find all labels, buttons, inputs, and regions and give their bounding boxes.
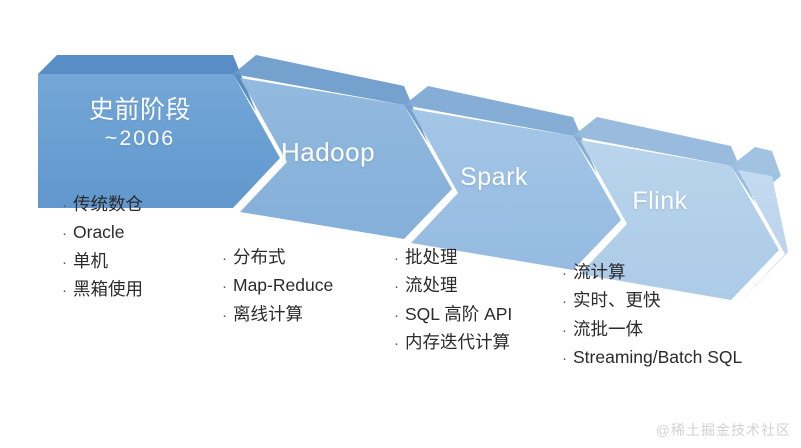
bullet-dot-icon: · (394, 332, 405, 356)
bullet-dot-icon: · (562, 262, 573, 286)
bullet-dot-icon: · (394, 304, 405, 328)
list-item: ·黑箱使用 (62, 275, 143, 303)
list-item: ·内存迭代计算 (394, 328, 512, 356)
bullets-spark: ·批处理 ·流处理 ·SQL 高阶 API ·内存迭代计算 (394, 243, 512, 356)
list-item-label: 流处理 (405, 275, 458, 295)
list-item-label: 流批一体 (573, 319, 643, 339)
bevel-hadoop (233, 55, 428, 143)
list-item-label: 分布式 (233, 247, 286, 267)
list-item: ·Map-Reduce (222, 271, 333, 299)
list-item: ·分布式 (222, 243, 333, 271)
stage-label-prehistoric: 史前阶段 ~2006 (60, 96, 220, 151)
bullets-prehistoric: ·传统数仓 ·Oracle ·单机 ·黑箱使用 (62, 190, 143, 303)
list-item: ·单机 (62, 247, 143, 275)
bullet-dot-icon: · (62, 251, 73, 275)
bullet-dot-icon: · (222, 275, 233, 299)
bullet-dot-icon: · (62, 279, 73, 303)
list-item: ·传统数仓 (62, 190, 143, 218)
bullet-dot-icon: · (562, 290, 573, 314)
bullets-hadoop: ·分布式 ·Map-Reduce ·离线计算 (222, 243, 333, 328)
bevel-arrow-tip (731, 147, 781, 196)
stage-title-flink: Flink (632, 187, 687, 215)
bullet-dot-icon: · (562, 347, 573, 371)
list-item-label: Oracle (73, 222, 125, 242)
bullet-dot-icon: · (562, 319, 573, 343)
list-item-label: Map-Reduce (233, 275, 333, 295)
stage-title-hadoop: Hadoop (281, 137, 375, 167)
list-item: ·Streaming/Batch SQL (562, 343, 742, 371)
list-item: ·批处理 (394, 243, 512, 271)
list-item: ·流计算 (562, 258, 742, 286)
list-item-label: 流计算 (573, 262, 626, 282)
watermark: @稀土掘金技术社区 (656, 420, 791, 440)
list-item-label: 离线计算 (233, 304, 303, 324)
list-item: ·实时、更快 (562, 286, 742, 314)
list-item: ·SQL 高阶 API (394, 300, 512, 328)
list-item-label: 批处理 (405, 247, 458, 267)
list-item-label: SQL 高阶 API (405, 304, 512, 324)
list-item-label: 黑箱使用 (73, 279, 143, 299)
bullet-dot-icon: · (222, 247, 233, 271)
list-item-label: 单机 (73, 251, 108, 271)
bullet-dot-icon: · (222, 304, 233, 328)
stage-label-spark: Spark (434, 163, 554, 193)
bullet-dot-icon: · (394, 275, 405, 299)
bullet-dot-icon: · (62, 222, 73, 246)
list-item-label: 传统数仓 (73, 194, 143, 214)
bevel-spark (404, 86, 597, 174)
bullet-dot-icon: · (62, 194, 73, 218)
stage-label-hadoop: Hadoop (258, 137, 398, 168)
stage-title-prehistoric: 史前阶段 (89, 96, 191, 124)
diagram-canvas: 史前阶段 ~2006 Hadoop Spark Flink ·传统数仓 ·Ora… (0, 0, 801, 448)
bullets-flink: ·流计算 ·实时、更快 ·流批一体 ·Streaming/Batch SQL (562, 258, 742, 371)
list-item: ·流批一体 (562, 315, 742, 343)
list-item: ·流处理 (394, 271, 512, 299)
chevron-arrow-tip (738, 170, 788, 304)
stage-title-spark: Spark (460, 163, 528, 191)
list-item: ·离线计算 (222, 300, 333, 328)
list-item-label: 内存迭代计算 (405, 332, 510, 352)
list-item: ·Oracle (62, 218, 143, 246)
list-item-label: Streaming/Batch SQL (573, 347, 742, 367)
stage-label-flink: Flink (605, 187, 715, 217)
bullet-dot-icon: · (394, 247, 405, 271)
stage-subtitle-prehistoric: ~2006 (60, 126, 220, 151)
list-item-label: 实时、更快 (573, 290, 661, 310)
